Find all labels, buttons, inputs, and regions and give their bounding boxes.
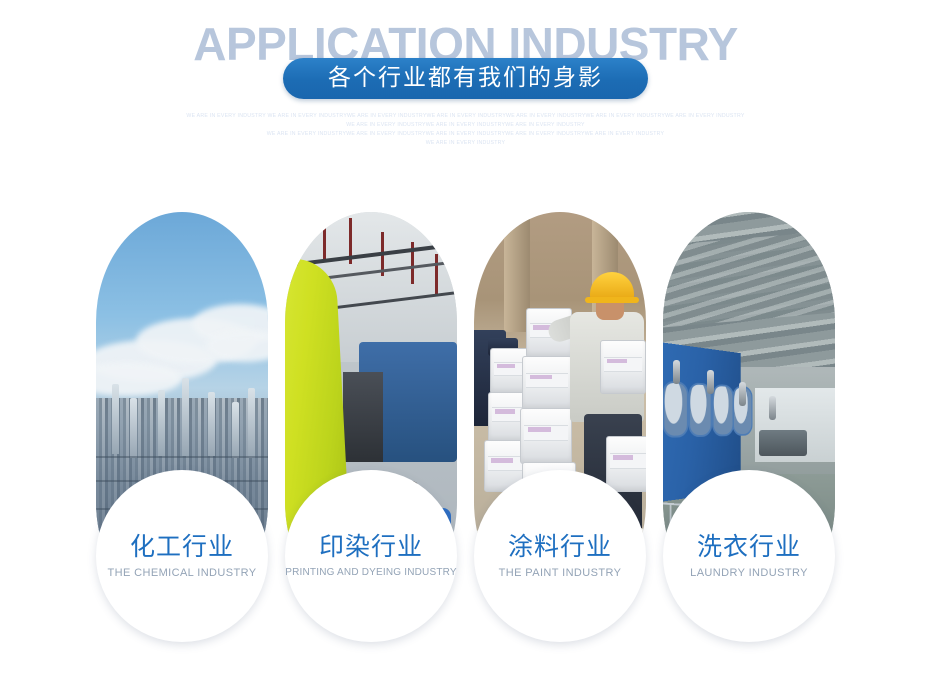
- badge-title-en: LAUNDRY INDUSTRY: [690, 566, 808, 580]
- industry-card-paint[interactable]: 涂料行业 THE PAINT INDUSTRY: [474, 212, 646, 612]
- badge-title-cn: 化工行业: [130, 532, 234, 562]
- badge-title-en: THE CHEMICAL INDUSTRY: [108, 566, 257, 580]
- industry-card-chemical[interactable]: 化工行业 THE CHEMICAL INDUSTRY: [96, 212, 268, 612]
- application-industry-banner: APPLICATION INDUSTRY 各个行业都有我们的身影 WE ARE …: [0, 0, 931, 676]
- industry-card-row: 化工行业 THE CHEMICAL INDUSTRY: [0, 0, 931, 676]
- industry-badge-printing-dyeing[interactable]: 印染行业 PRINTING AND DYEING INDUSTRY: [285, 470, 457, 642]
- badge-title-en: THE PAINT INDUSTRY: [499, 566, 622, 580]
- industry-badge-paint[interactable]: 涂料行业 THE PAINT INDUSTRY: [474, 470, 646, 642]
- badge-title-en: PRINTING AND DYEING INDUSTRY: [285, 566, 457, 580]
- badge-title-cn: 印染行业: [319, 532, 423, 562]
- industry-badge-laundry[interactable]: 洗衣行业 LAUNDRY INDUSTRY: [663, 470, 835, 642]
- industry-badge-chemical[interactable]: 化工行业 THE CHEMICAL INDUSTRY: [96, 470, 268, 642]
- badge-title-cn: 涂料行业: [508, 532, 612, 562]
- badge-title-cn: 洗衣行业: [697, 532, 801, 562]
- industry-card-laundry[interactable]: 洗衣行业 LAUNDRY INDUSTRY: [663, 212, 835, 612]
- industry-card-printing-dyeing[interactable]: 印染行业 PRINTING AND DYEING INDUSTRY: [285, 212, 457, 612]
